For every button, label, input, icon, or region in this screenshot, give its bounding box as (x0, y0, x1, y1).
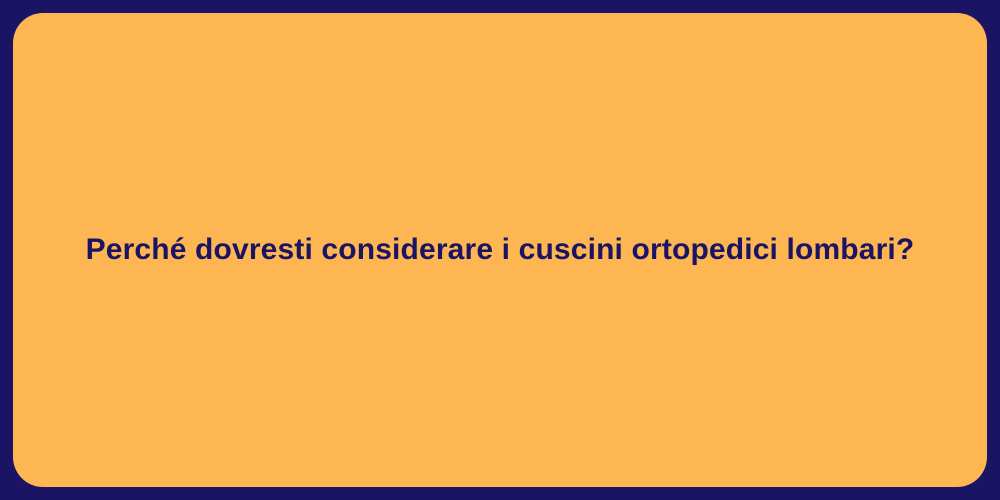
page-title: Perché dovresti considerare i cuscini or… (46, 231, 955, 269)
banner-frame: Perché dovresti considerare i cuscini or… (0, 0, 1000, 500)
banner-panel: Perché dovresti considerare i cuscini or… (13, 13, 987, 487)
